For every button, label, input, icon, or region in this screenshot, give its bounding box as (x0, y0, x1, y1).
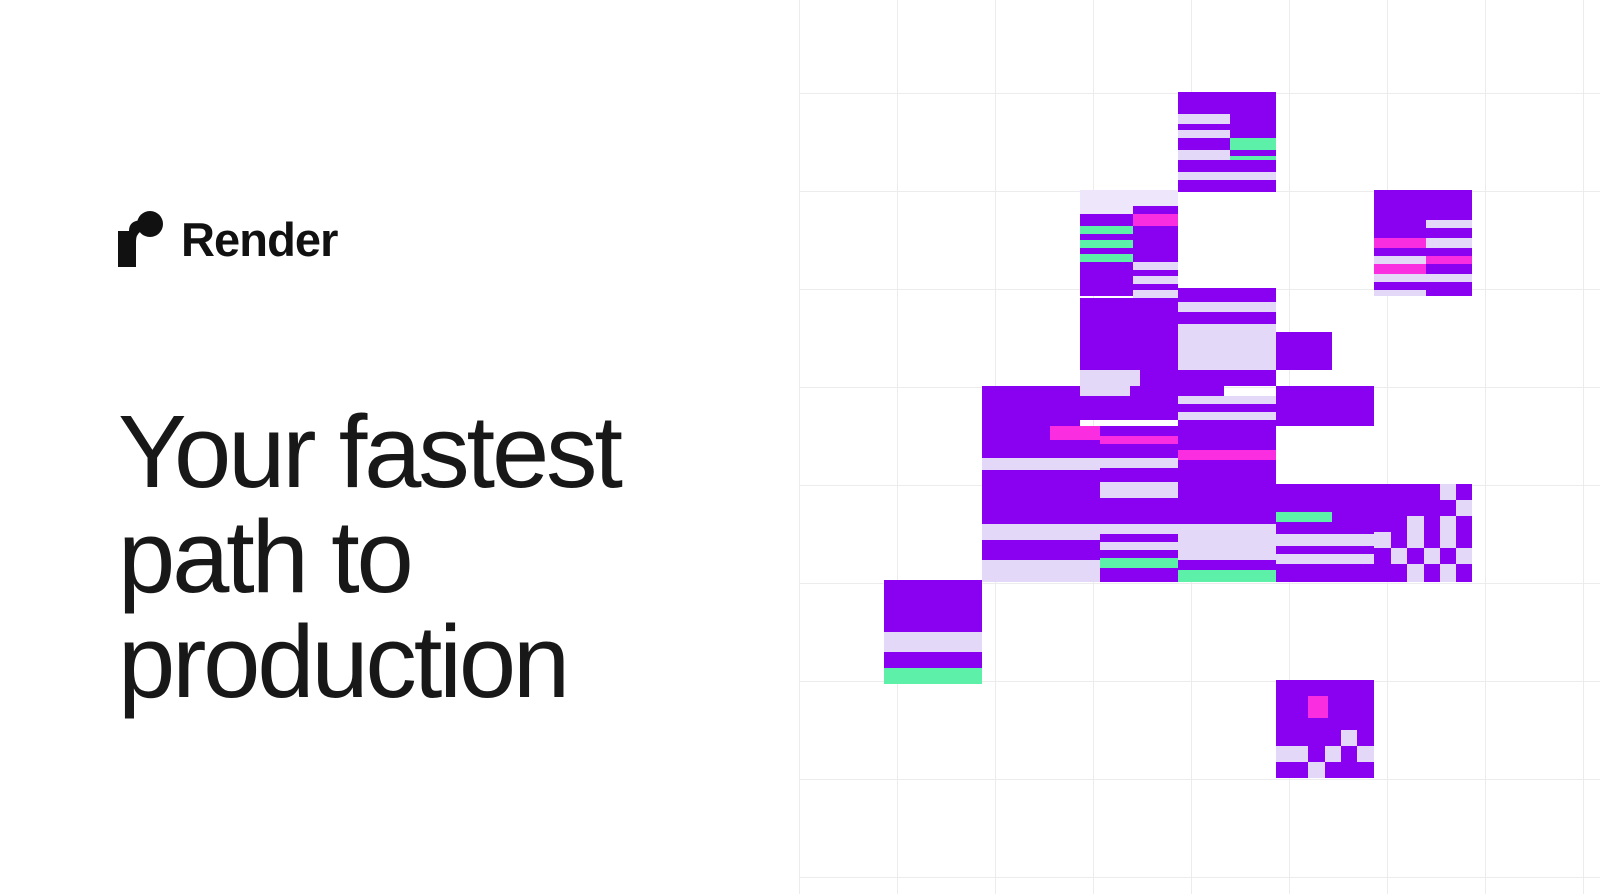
mosaic-tile (1276, 554, 1374, 564)
mosaic-tile (1133, 206, 1178, 214)
mosaic-tile (1426, 264, 1472, 274)
mosaic-tile (1178, 396, 1276, 404)
mosaic-tile (1133, 290, 1178, 298)
mosaic-tile (1178, 542, 1276, 560)
mosaic-tile (1100, 534, 1178, 542)
mosaic-tile (1308, 762, 1325, 778)
hero-left-pane: Render Your fastest path to production (0, 0, 790, 894)
mosaic-tile (1178, 114, 1230, 124)
mosaic-tile (1100, 550, 1178, 558)
mosaic-tile (1440, 484, 1456, 500)
mosaic-tile (1178, 172, 1276, 180)
mosaic-tile (1100, 468, 1178, 482)
mosaic-tile (1276, 522, 1374, 534)
mosaic-tile (1050, 426, 1100, 440)
hero-artwork-pane (790, 0, 1600, 894)
mosaic-tile (1374, 248, 1426, 256)
mosaic-tile (1100, 436, 1178, 444)
mosaic-tile (1100, 458, 1178, 468)
mosaic-tile (1276, 746, 1308, 762)
mosaic-tile (1407, 532, 1424, 548)
mosaic-tile (1426, 238, 1472, 248)
mosaic-tile (1133, 262, 1178, 270)
mosaic-tile (1426, 190, 1472, 220)
mosaic-tile (1276, 680, 1374, 778)
brand-name: Render (181, 216, 338, 263)
mosaic-tile (1456, 500, 1472, 516)
mosaic-tile (1133, 276, 1178, 284)
mosaic-tile (1374, 264, 1426, 274)
mosaic-tile (1140, 370, 1178, 386)
mosaic-tile (1374, 190, 1426, 220)
mosaic-tile (1080, 254, 1133, 262)
mosaic-tile (1426, 274, 1472, 282)
mosaic-tile (1100, 444, 1178, 458)
mosaic-tile (1178, 138, 1230, 150)
mosaic-tile (1178, 302, 1276, 312)
mosaic-tile (1426, 282, 1472, 290)
mosaic-tile (982, 524, 1100, 540)
mosaic-tile (1130, 386, 1178, 396)
mosaic-tile (1178, 312, 1276, 324)
mosaic-tile (1178, 130, 1230, 138)
mosaic-tile (1374, 238, 1426, 248)
mosaic-tile (1080, 214, 1133, 226)
mosaic-tile (982, 560, 1100, 582)
mosaic-tile (1178, 428, 1276, 450)
mosaic-tile (1230, 130, 1276, 138)
page-title: Your fastest path to production (118, 399, 758, 714)
mosaic-tile (1178, 288, 1276, 302)
mosaic-tile (1440, 564, 1456, 582)
mosaic-tile (1178, 92, 1276, 114)
mosaic-tile (1426, 290, 1472, 296)
mosaic-tile (1332, 512, 1374, 522)
mosaic-tile (1133, 240, 1178, 248)
mosaic-tile (884, 580, 982, 632)
brand-lockup[interactable]: Render (118, 208, 338, 270)
mosaic-tile (1178, 404, 1276, 412)
mosaic-tile (1133, 248, 1178, 262)
mosaic-tile (982, 440, 1100, 458)
mosaic-tile (1374, 274, 1426, 282)
mosaic-tile (1080, 370, 1140, 386)
mosaic-tile (1100, 542, 1178, 550)
mosaic-tile (1178, 560, 1276, 570)
mosaic-tile (1080, 386, 1130, 396)
mosaic-tile (1456, 548, 1472, 564)
mosaic-tile (1426, 256, 1472, 264)
mosaic-tile (1426, 248, 1472, 256)
mosaic-tile (1374, 282, 1426, 290)
mosaic-tile (1440, 516, 1456, 532)
mosaic-tile (1440, 532, 1456, 548)
render-logo-mark-icon (118, 211, 164, 267)
mosaic-tile (884, 632, 982, 652)
mosaic-tile (1080, 190, 1178, 206)
mosaic-tile (1100, 482, 1178, 498)
mosaic-tile (1178, 420, 1276, 428)
mosaic-tile (1178, 450, 1276, 460)
mosaic-tile (1178, 160, 1276, 172)
mosaic-tile (982, 458, 1100, 470)
mosaic-tile (1133, 214, 1178, 226)
mosaic-tile (1276, 386, 1374, 426)
mosaic-tile (1276, 564, 1374, 582)
mosaic-tile (1178, 192, 1276, 288)
mosaic-tile (1374, 290, 1426, 296)
mosaic-tile (1276, 534, 1374, 546)
hero-page: Render Your fastest path to production (0, 0, 1600, 894)
mosaic-tile (1276, 546, 1374, 554)
mosaic-tile (1178, 324, 1276, 332)
mosaic-tile (1100, 558, 1178, 568)
mosaic-tile (1178, 498, 1276, 524)
mosaic-tile (1426, 220, 1472, 228)
mosaic-tile (1407, 516, 1424, 532)
mosaic-tile (1276, 426, 1374, 484)
mosaic-tile (1080, 206, 1133, 214)
pixel-mosaic (790, 0, 1600, 894)
mosaic-tile (1374, 220, 1426, 238)
mosaic-tile (1178, 180, 1276, 192)
mosaic-tile (1308, 696, 1328, 718)
mosaic-tile (1426, 228, 1472, 238)
mosaic-tile (1178, 570, 1276, 582)
mosaic-tile (1178, 370, 1276, 386)
mosaic-tile (1407, 564, 1424, 582)
mosaic-tile (1178, 412, 1276, 420)
mosaic-tile (1325, 746, 1341, 762)
mosaic-tile (884, 652, 982, 668)
mosaic-tile (884, 668, 982, 684)
mosaic-tile (1133, 226, 1178, 234)
mosaic-tile (1080, 396, 1178, 420)
mosaic-tile (1230, 138, 1276, 150)
mosaic-tile (982, 470, 1100, 524)
mosaic-tile (1100, 524, 1178, 534)
mosaic-tile (1178, 332, 1276, 370)
mosaic-tile (1178, 150, 1230, 160)
mosaic-tile (1178, 386, 1224, 396)
mosaic-tile (982, 540, 1100, 560)
mosaic-tile (1178, 460, 1276, 498)
mosaic-tile (982, 426, 1050, 440)
mosaic-tile (1080, 298, 1178, 370)
mosaic-tile (1276, 332, 1332, 370)
mosaic-tile (1178, 524, 1276, 542)
mosaic-tile (1357, 746, 1374, 762)
mosaic-tile (1374, 532, 1391, 548)
mosaic-tile (1276, 512, 1332, 522)
mosaic-tile (1100, 498, 1178, 524)
mosaic-tile (1100, 568, 1178, 582)
mosaic-tile (1391, 548, 1407, 564)
mosaic-tile (1230, 114, 1276, 124)
mosaic-tile (1374, 256, 1426, 264)
mosaic-tile (1424, 548, 1440, 564)
mosaic-tile (1080, 240, 1133, 248)
mosaic-tile (1341, 730, 1357, 746)
mosaic-tile (1080, 262, 1133, 296)
mosaic-tile (1080, 226, 1133, 234)
